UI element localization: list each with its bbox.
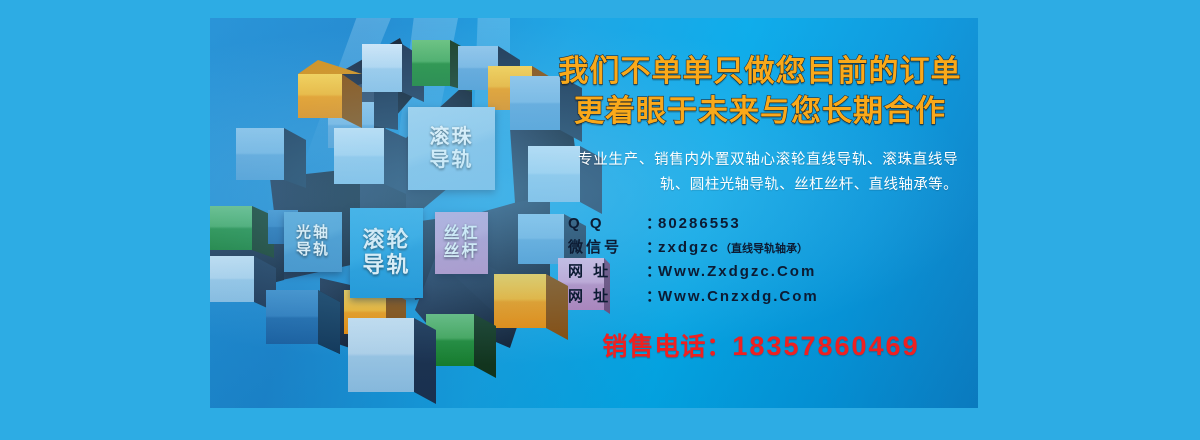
contact-list: Q Q ： 80286553 微信号 ： zxdgzc （直线导轨轴承） 网 址… [550,212,970,309]
tile-label-line2: 导轨 [362,253,410,278]
sales-phone-label: 销售电话： [602,333,732,361]
contact-row-qq: Q Q ： 80286553 [568,212,970,236]
contact-colon: ： [646,236,658,260]
tile-label-line1: 光轴 [296,225,330,242]
contact-note-wechat: （直线导轨轴承） [720,241,808,259]
tile-lead-screw[interactable]: 丝杠 丝杆 [435,212,488,274]
contact-row-website-1: 网 址 ： Www.Zxdgzc.Com [568,260,970,284]
contact-label: 微信号 [568,236,646,260]
tile-roller-guide-rail[interactable]: 滚轮 导轨 [350,208,423,298]
tile-ball-guide-rail[interactable]: 滚珠 导轨 [408,107,495,190]
contact-label: 网 址 [568,285,646,309]
headline-line-1: 我们不单单只做您目前的订单 [550,52,970,92]
contact-colon: ： [646,285,658,309]
contact-colon: ： [646,212,658,236]
contact-colon: ： [646,260,658,284]
tile-label-line1: 滚轮 [362,228,410,253]
sales-phone[interactable]: 销售电话：18357860469 [550,327,970,363]
tile-label-line2: 导轨 [430,149,474,171]
banner-copy-column: 我们不单单只做您目前的订单 更着眼于未来与您长期合作 专业生产、销售内外置双轴心… [550,36,970,396]
tile-label-line1: 丝杠 [443,225,479,243]
tile-label-line2: 导轨 [296,242,330,259]
contact-value-qq[interactable]: 80286553 [658,212,741,236]
contact-value-website-2[interactable]: Www.Cnzxdg.Com [658,285,819,309]
headline-line-2: 更着眼于未来与您长期合作 [550,92,970,132]
screenshot-root: 滚珠 导轨 光轴 导轨 滚轮 导轨 丝杠 丝杆 我们不单单只做您目前的订单 更着… [0,0,1200,440]
contact-row-website-2: 网 址 ： Www.Cnzxdg.Com [568,285,970,309]
contact-row-wechat: 微信号 ： zxdgzc （直线导轨轴承） [568,236,970,260]
sales-phone-number[interactable]: 18357860469 [732,331,919,361]
contact-value-website-1[interactable]: Www.Zxdgzc.Com [658,260,816,284]
tile-label-line2: 丝杆 [443,243,479,261]
contact-label: 网 址 [568,260,646,284]
headline: 我们不单单只做您目前的订单 更着眼于未来与您长期合作 [550,52,970,132]
tile-optical-axis-guide[interactable]: 光轴 导轨 [284,212,342,272]
product-description: 专业生产、销售内外置双轴心滚轮直线导轨、滚珠直线导轨、圆柱光轴导轨、丝杠丝杆、直… [550,148,970,198]
contact-value-wechat[interactable]: zxdgzc [658,236,720,260]
promo-banner: 滚珠 导轨 光轴 导轨 滚轮 导轨 丝杠 丝杆 我们不单单只做您目前的订单 更着… [210,18,978,408]
tile-label-line1: 滚珠 [430,126,474,148]
contact-label: Q Q [568,212,646,236]
